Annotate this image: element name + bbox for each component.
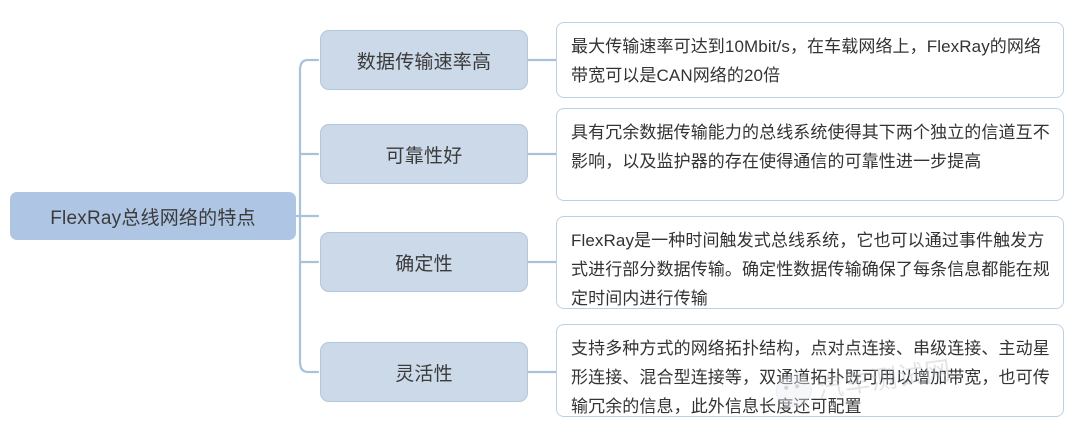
branch-node-1[interactable]: 数据传输速率高: [320, 30, 528, 90]
branch-node-4-label: 灵活性: [395, 359, 453, 386]
mindmap-canvas: FlexRay总线网络的特点 数据传输速率高 最大传输速率可达到10Mbit/s…: [0, 0, 1080, 431]
detail-node-1-text: 最大传输速率可达到10Mbit/s，在车载网络上，FlexRay的网络带宽可以是…: [571, 32, 1050, 90]
detail-node-3-text: FlexRay是一种时间触发式总线系统，它也可以通过事件触发方式进行部分数据传输…: [571, 226, 1050, 313]
root-node[interactable]: FlexRay总线网络的特点: [10, 192, 296, 240]
branch-node-3[interactable]: 确定性: [320, 232, 528, 292]
branch-node-2[interactable]: 可靠性好: [320, 124, 528, 184]
branch-node-2-label: 可靠性好: [386, 141, 463, 168]
detail-node-4-text: 支持多种方式的网络拓扑结构，点对点连接、串级连接、主动星形连接、混合型连接等，双…: [571, 334, 1050, 421]
branch-node-3-label: 确定性: [395, 249, 453, 276]
detail-node-3[interactable]: FlexRay是一种时间触发式总线系统，它也可以通过事件触发方式进行部分数据传输…: [556, 216, 1064, 309]
detail-node-1[interactable]: 最大传输速率可达到10Mbit/s，在车载网络上，FlexRay的网络带宽可以是…: [556, 22, 1064, 98]
detail-node-4[interactable]: 支持多种方式的网络拓扑结构，点对点连接、串级连接、主动星形连接、混合型连接等，双…: [556, 324, 1064, 417]
branch-node-4[interactable]: 灵活性: [320, 342, 528, 402]
connector-spine: [300, 60, 318, 372]
root-node-label: FlexRay总线网络的特点: [50, 203, 255, 230]
detail-node-2[interactable]: 具有冗余数据传输能力的总线系统使得其下两个独立的信道互不影响，以及监护器的存在使…: [556, 108, 1064, 201]
detail-node-2-text: 具有冗余数据传输能力的总线系统使得其下两个独立的信道互不影响，以及监护器的存在使…: [571, 118, 1050, 176]
branch-node-1-label: 数据传输速率高: [357, 47, 491, 74]
